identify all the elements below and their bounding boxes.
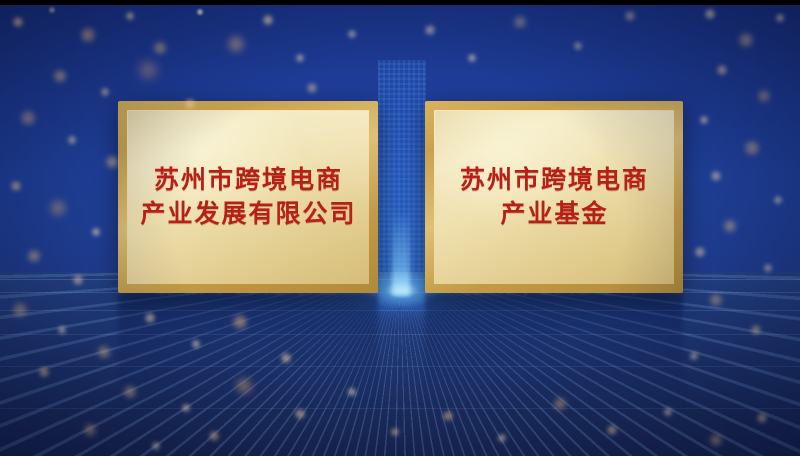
plaque-right-line-2: 产业基金: [500, 198, 608, 232]
plaque-left-line-2: 产业发展有限公司: [140, 198, 356, 232]
center-light-beam: [392, 210, 410, 295]
plaque-face-left: 苏州市跨境电商 产业发展有限公司: [127, 110, 369, 284]
letterbox-top-bar: [0, 0, 800, 5]
company-plaque: 苏州市跨境电商 产业发展有限公司: [118, 101, 378, 293]
stage-scene: 苏州市跨境电商 产业发展有限公司 苏州市跨境电商 产业基金 苏州市跨境电商 产业…: [0, 0, 800, 456]
plaque-right-line-1: 苏州市跨境电商: [460, 164, 649, 198]
plaque-face-right: 苏州市跨境电商 产业基金: [434, 110, 674, 284]
fund-plaque: 苏州市跨境电商 产业基金: [425, 101, 683, 293]
plaque-left-line-1: 苏州市跨境电商: [154, 164, 343, 198]
stage-floor: [0, 272, 800, 456]
